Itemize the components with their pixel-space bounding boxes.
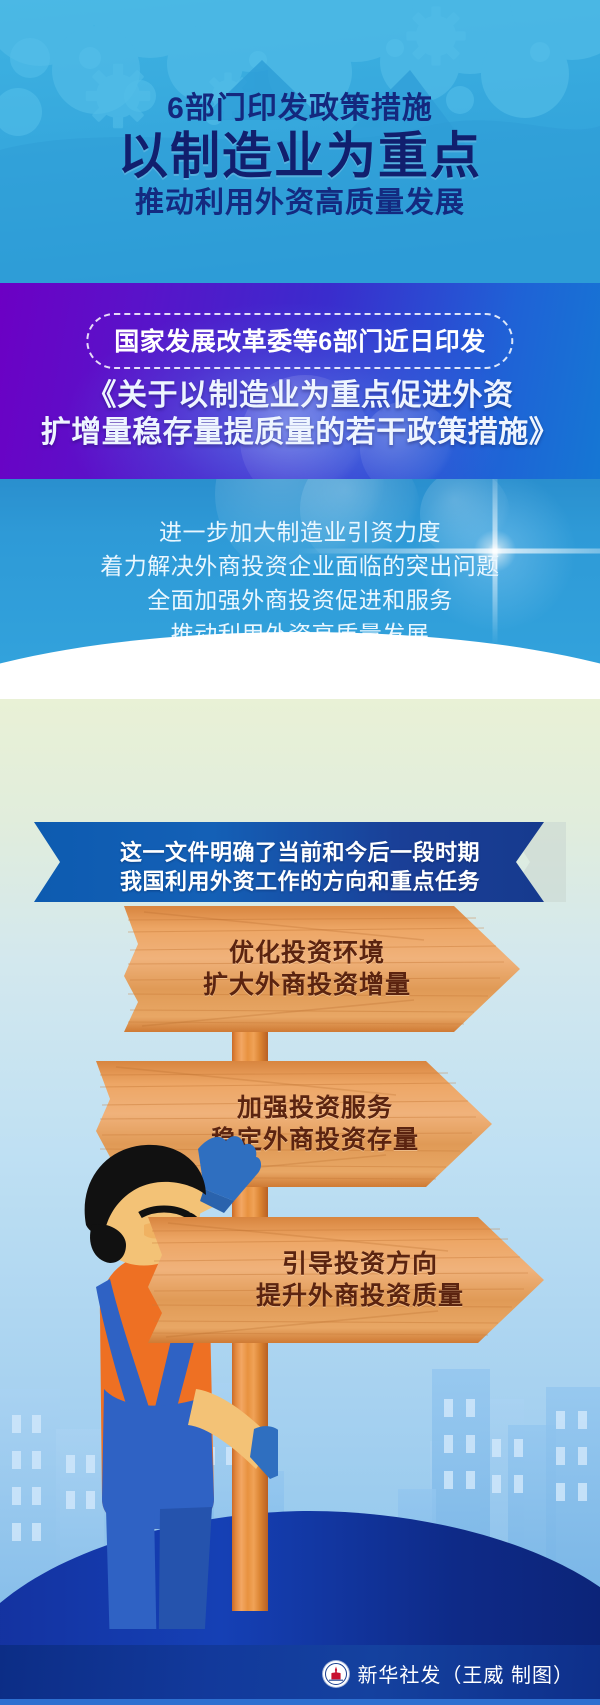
hero-headline: 以制造业为重点 [0,131,600,181]
objective-item: 着力解决外商投资企业面临的突出问题 [0,549,600,583]
objective-item: 进一步加大制造业引资力度 [0,515,600,549]
sign-board-3-label: 引导投资方向 提升外商投资质量 [148,1217,544,1343]
worker-glove-upper [198,1136,261,1213]
sign-board-1-label: 优化投资环境 扩大外商投资增量 [124,906,520,1032]
footer-bar: 新华社发（王威 制图） [0,1645,600,1705]
xinhua-logo-icon [323,1661,349,1687]
sign-board-3[interactable]: 引导投资方向 提升外商投资质量 [148,1217,544,1343]
scene-section: 这一文件明确了当前和今后一段时期 我国利用外资工作的方向和重点任务 [0,699,600,1705]
banner-line-2: 我国利用外资工作的方向和重点任务 [34,867,566,896]
sign-1-line-2: 扩大外商投资增量 [203,969,411,1001]
document-title-line-2: 扩增量稳存量提质量的若干政策措施》 [0,415,600,452]
infographic-page: 6部门印发政策措施 以制造业为重点 推动利用外资高质量发展 国家发展改革委等6部… [0,0,600,1705]
worker-glove-lower [250,1426,278,1479]
document-title: 《关于以制造业为重点促进外资 扩增量稳存量提质量的若干政策措施》 [0,378,600,452]
worker-leg-right [158,1507,212,1629]
hero-subheadline: 推动利用外资高质量发展 [0,189,600,218]
document-band-section: 国家发展改革委等6部门近日印发 《关于以制造业为重点促进外资 扩增量稳存量提质量… [0,283,600,479]
xinhua-emblem [325,1663,347,1685]
sign-3-line-1: 引导投资方向 [282,1248,438,1280]
key-message-banner: 这一文件明确了当前和今后一段时期 我国利用外资工作的方向和重点任务 [34,822,566,902]
hero-title-block: 6部门印发政策措施 以制造业为重点 推动利用外资高质量发展 [0,94,600,218]
banner-line-1: 这一文件明确了当前和今后一段时期 [34,838,566,867]
banner-text-block: 这一文件明确了当前和今后一段时期 我国利用外资工作的方向和重点任务 [34,838,566,896]
objectives-list: 进一步加大制造业引资力度 着力解决外商投资企业面临的突出问题 全面加强外商投资促… [0,515,600,651]
issuing-authority-pill: 国家发展改革委等6部门近日印发 [86,313,513,369]
sign-3-line-2: 提升外商投资质量 [256,1280,464,1312]
footer-credit-text: 新华社发（王威 制图） [357,1659,574,1688]
hero-section: 6部门印发政策措施 以制造业为重点 推动利用外资高质量发展 [0,0,600,283]
sign-board-1[interactable]: 优化投资环境 扩大外商投资增量 [124,906,520,1032]
footer-accent-strip [0,1699,600,1705]
worker-leg-left [106,1509,158,1629]
objective-item: 全面加强外商投资促进和服务 [0,583,600,617]
footer-credit-group: 新华社发（王威 制图） [323,1659,574,1688]
hero-kicker: 6部门印发政策措施 [0,94,600,124]
sign-1-line-1: 优化投资环境 [229,937,385,969]
document-title-line-1: 《关于以制造业为重点促进外资 [0,378,600,415]
